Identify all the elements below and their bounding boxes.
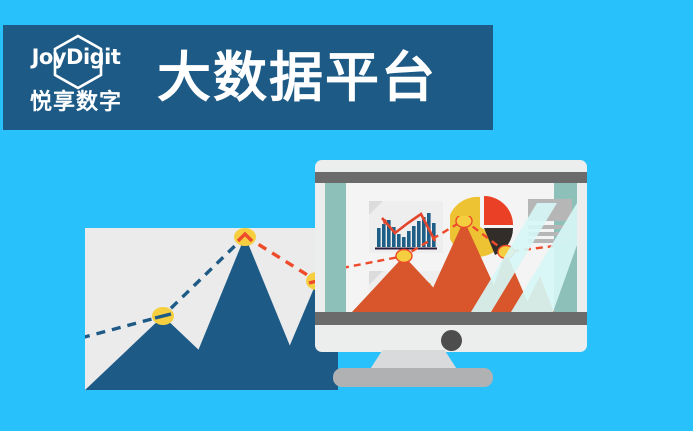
data-marker	[234, 228, 256, 246]
monitor-screen	[325, 183, 577, 312]
screen-content-area	[346, 183, 554, 312]
logo-subtitle: 悦享数字	[15, 84, 137, 116]
orange-peak-far-right	[522, 276, 554, 312]
page-title: 大数据平台	[157, 51, 437, 105]
data-marker	[498, 246, 514, 259]
poster-canvas: JoyDigit 悦享数字 大数据平台	[0, 0, 693, 431]
power-indicator-icon	[441, 330, 462, 351]
monitor-bottom-bar	[315, 312, 587, 325]
data-marker	[456, 216, 472, 228]
logo-wordmark: JoyDigit	[15, 45, 137, 69]
data-marker	[396, 250, 412, 263]
orange-area-chart[interactable]	[346, 216, 554, 312]
desktop-monitor	[315, 160, 587, 352]
header-banner: JoyDigit 悦享数字 大数据平台	[3, 25, 493, 130]
monitor-top-bar	[315, 172, 587, 183]
monitor-stand-base	[333, 368, 493, 387]
mountain-line-chart-panel	[85, 228, 338, 390]
left-panel-graphic	[85, 228, 338, 390]
brand-logo: JoyDigit 悦享数字	[15, 32, 137, 124]
